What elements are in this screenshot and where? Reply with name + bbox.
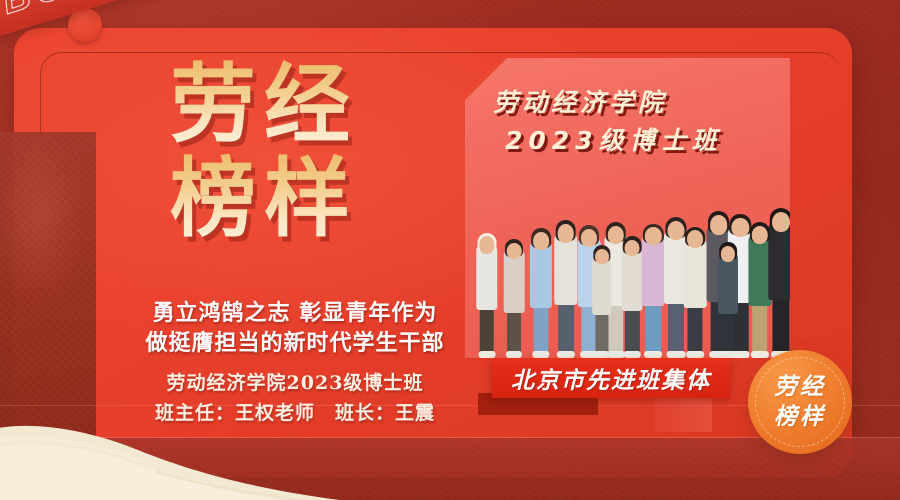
person-shoes: [686, 351, 704, 358]
honor-banner: 北京市先进班集体: [492, 358, 730, 398]
photo-person: [503, 218, 525, 358]
badge-line-1: 劳经: [774, 372, 826, 402]
person-shoes: [506, 351, 522, 358]
person-head: [595, 249, 609, 265]
photo-card-heading: 劳动经济学院 2023级博士班: [493, 84, 723, 160]
group-photo: [465, 166, 790, 358]
person-head: [479, 236, 494, 253]
photo-person: [683, 206, 707, 358]
person-torso: [530, 240, 552, 309]
person-shoes: [667, 351, 686, 358]
class-staff-text: 班主任：王权老师 班长：王震: [120, 398, 470, 428]
person-shoes: [532, 351, 549, 358]
person-torso: [476, 244, 498, 311]
person-torso: [642, 235, 665, 306]
person-torso: [684, 238, 706, 308]
photo-heading-line-1: 劳动经济学院: [493, 84, 723, 122]
slogan-block: 勇立鸿鹄之志 彰显青年作为 做挺膺担当的新时代学生干部: [120, 298, 470, 358]
photo-card: 劳动经济学院 2023级博士班: [465, 58, 790, 358]
title-line-2: 榜样: [170, 152, 430, 246]
slogan-line-1: 勇立鸿鹄之志 彰显青年作为: [120, 298, 470, 328]
badge-line-2: 榜样: [774, 402, 826, 432]
person-torso: [768, 222, 790, 300]
photo-person: [767, 188, 790, 358]
person-shoes: [478, 351, 495, 358]
status-badge: 劳经 榜样: [748, 350, 852, 454]
person-shoes: [594, 351, 609, 358]
person-head: [687, 230, 703, 248]
photo-heading-line-2: 2023级博士班: [493, 122, 723, 160]
person-shoes: [557, 351, 575, 358]
person-shoes: [624, 351, 640, 358]
person-shoes: [607, 351, 625, 358]
person-shoes: [720, 351, 736, 358]
person-head: [533, 232, 549, 250]
left-texture-panel: [0, 132, 96, 462]
page-title: 劳经 榜样: [170, 58, 430, 246]
class-name-text: 劳动经济学院2023级博士班: [120, 368, 470, 398]
corner-dot-decoration: [68, 8, 102, 42]
class-meta-block: 劳动经济学院2023级博士班 班主任：王权老师 班长：王震: [120, 368, 470, 428]
person-head: [557, 224, 574, 243]
person-shoes: [644, 351, 662, 358]
person-head: [581, 229, 597, 247]
honor-banner-label: 北京市先进班集体: [511, 361, 711, 395]
person-head: [668, 221, 685, 240]
person-head: [507, 243, 522, 259]
person-torso: [554, 233, 577, 306]
title-line-1: 劳经: [170, 58, 430, 152]
slogan-line-2: 做挺膺担当的新时代学生干部: [120, 328, 470, 358]
person-head: [772, 212, 790, 232]
photo-person: [553, 200, 578, 358]
person-shoes: [751, 351, 769, 358]
bottom-dark-band: [0, 438, 900, 500]
photo-person: [475, 212, 498, 358]
person-head: [721, 246, 735, 262]
person-head: [710, 215, 728, 235]
photo-person: [529, 208, 553, 358]
poster-canvas: 劳经 榜样 勇立鸿鹄之志 彰显青年作为 做挺膺担当的新时代学生干部 劳动经济学院…: [0, 0, 900, 500]
person-head: [645, 227, 661, 245]
person-head: [625, 240, 640, 257]
